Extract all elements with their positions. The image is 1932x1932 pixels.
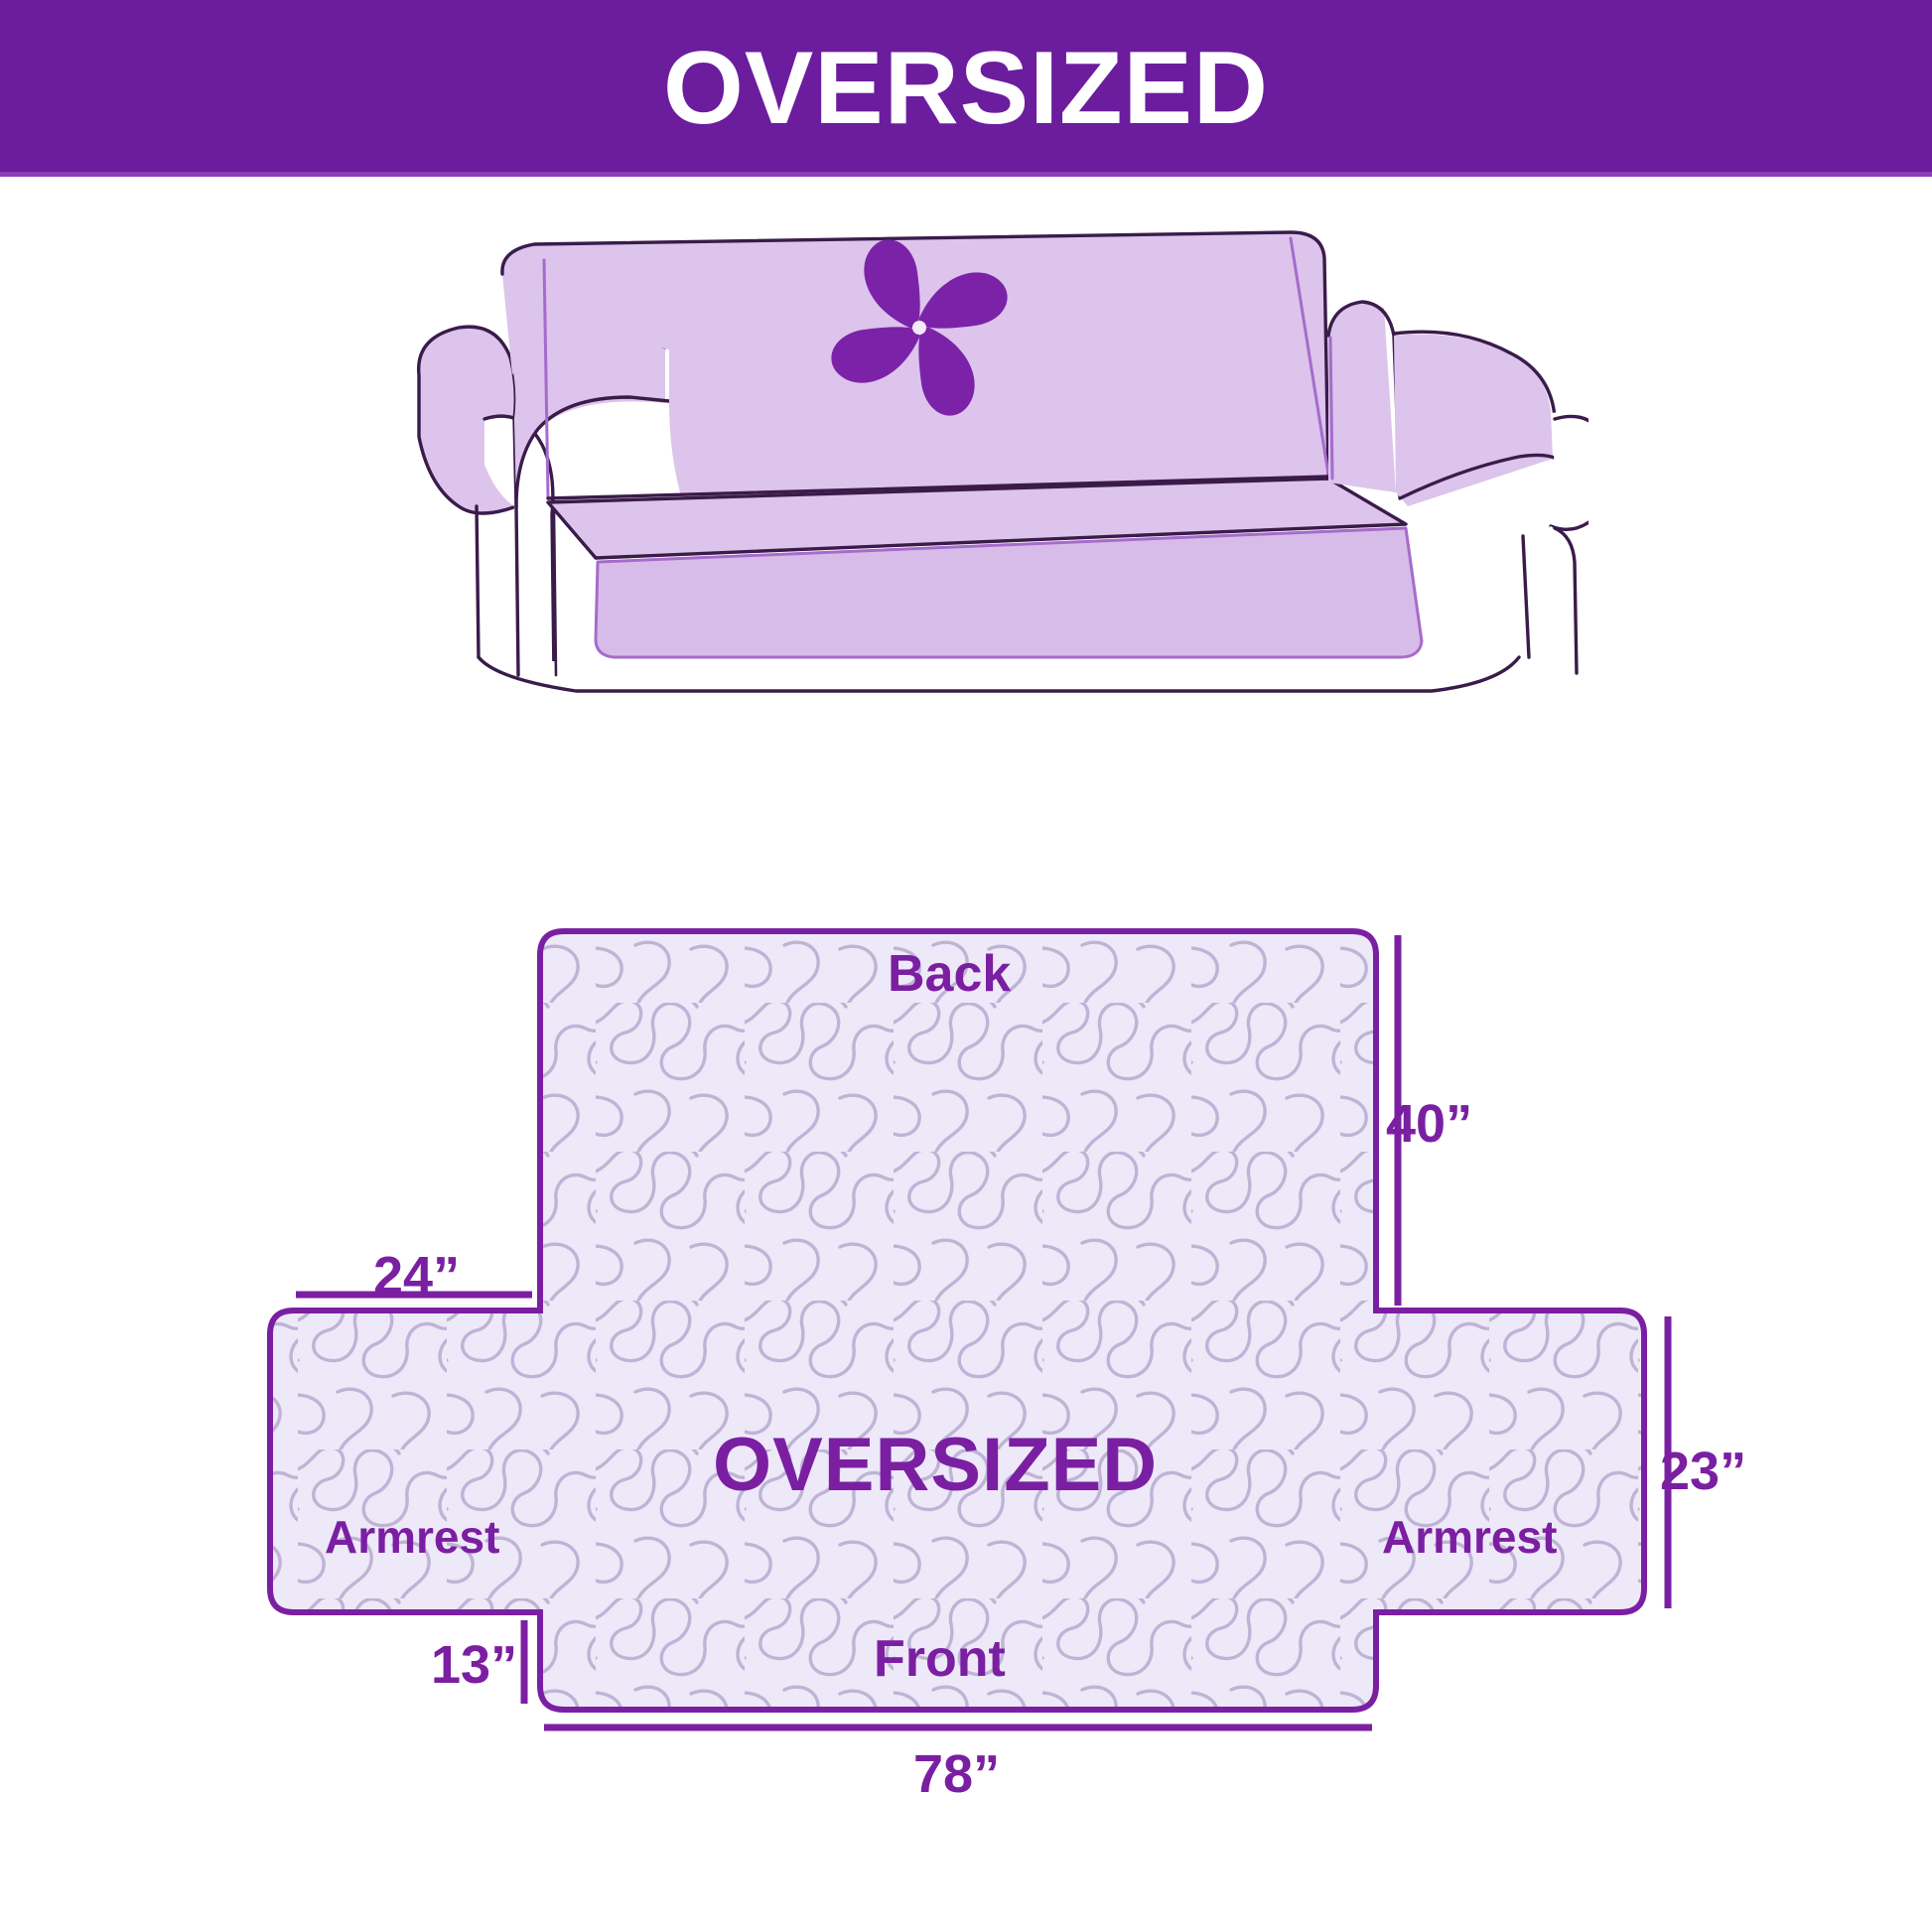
measurement-front-skirt: 13” bbox=[431, 1638, 517, 1692]
header-underline bbox=[0, 172, 1932, 177]
measurement-back-offset-left: 24” bbox=[373, 1249, 460, 1303]
label-back: Back bbox=[888, 948, 1011, 1000]
measurement-back-height: 40” bbox=[1386, 1097, 1472, 1151]
label-armrest-left: Armrest bbox=[325, 1514, 499, 1560]
dimension-diagram bbox=[0, 854, 1932, 1847]
diagram-title: OVERSIZED bbox=[713, 1428, 1158, 1503]
page-title: OVERSIZED bbox=[663, 37, 1269, 140]
slipcover-outline-shape bbox=[258, 923, 1658, 1727]
sofa-illustration: .lav { fill:#DCC4EC; } .lav2 { fill:#D7B… bbox=[367, 208, 1588, 705]
measurement-armrest-depth: 23” bbox=[1660, 1445, 1746, 1498]
label-front: Front bbox=[874, 1633, 1006, 1685]
measurement-total-width: 78” bbox=[913, 1747, 1000, 1801]
label-armrest-right: Armrest bbox=[1382, 1514, 1557, 1560]
header-banner: OVERSIZED bbox=[0, 0, 1932, 177]
